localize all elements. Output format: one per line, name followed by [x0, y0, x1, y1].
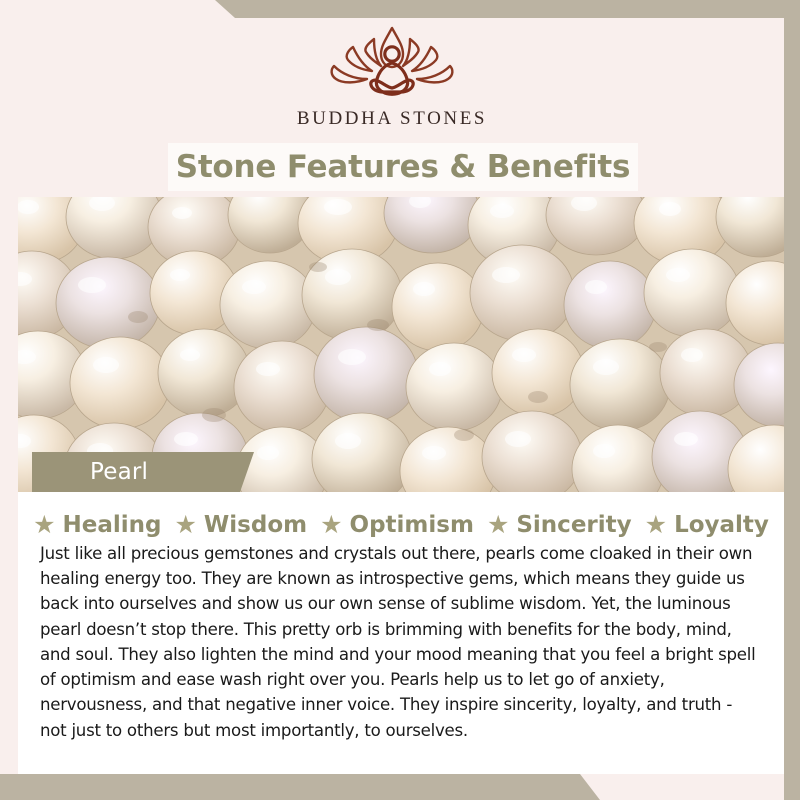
keyword-healing: ★ Healing	[33, 512, 161, 538]
title-banner: Stone Features & Benefits	[168, 143, 638, 191]
brand-name: BUDDHA STONES	[297, 108, 487, 130]
lotus-meditation-icon	[317, 22, 467, 106]
keyword-label: Wisdom	[204, 512, 307, 538]
frame-right-bar	[784, 0, 800, 800]
stone-name-label: Pearl	[32, 459, 148, 485]
poster-root: BUDDHA STONES Stone Features & Benefits	[0, 0, 800, 800]
keyword-label: Optimism	[350, 512, 474, 538]
keyword-loyalty: ★ Loyalty	[645, 512, 769, 538]
stone-name-tab: Pearl	[32, 452, 254, 492]
star-icon: ★	[33, 513, 55, 538]
stone-description: Just like all precious gemstones and cry…	[40, 541, 762, 743]
benefit-keywords: ★ Healing ★ Wisdom ★ Optimism ★ Sincerit…	[40, 512, 762, 538]
frame-top-bar	[0, 0, 800, 18]
star-icon: ★	[487, 513, 509, 538]
keyword-optimism: ★ Optimism	[320, 512, 474, 538]
keyword-wisdom: ★ Wisdom	[175, 512, 308, 538]
frame-bottom-bar	[0, 774, 800, 800]
content-card: ★ Healing ★ Wisdom ★ Optimism ★ Sincerit…	[18, 492, 784, 774]
keyword-label: Loyalty	[674, 512, 769, 538]
star-icon: ★	[320, 513, 342, 538]
keyword-label: Healing	[63, 512, 162, 538]
pearls-photo	[18, 197, 784, 492]
star-icon: ★	[175, 513, 197, 538]
keyword-label: Sincerity	[516, 512, 631, 538]
page-title: Stone Features & Benefits	[176, 149, 631, 185]
brand-logo: BUDDHA STONES	[0, 22, 784, 142]
keyword-sincerity: ★ Sincerity	[487, 512, 632, 538]
star-icon: ★	[645, 513, 667, 538]
